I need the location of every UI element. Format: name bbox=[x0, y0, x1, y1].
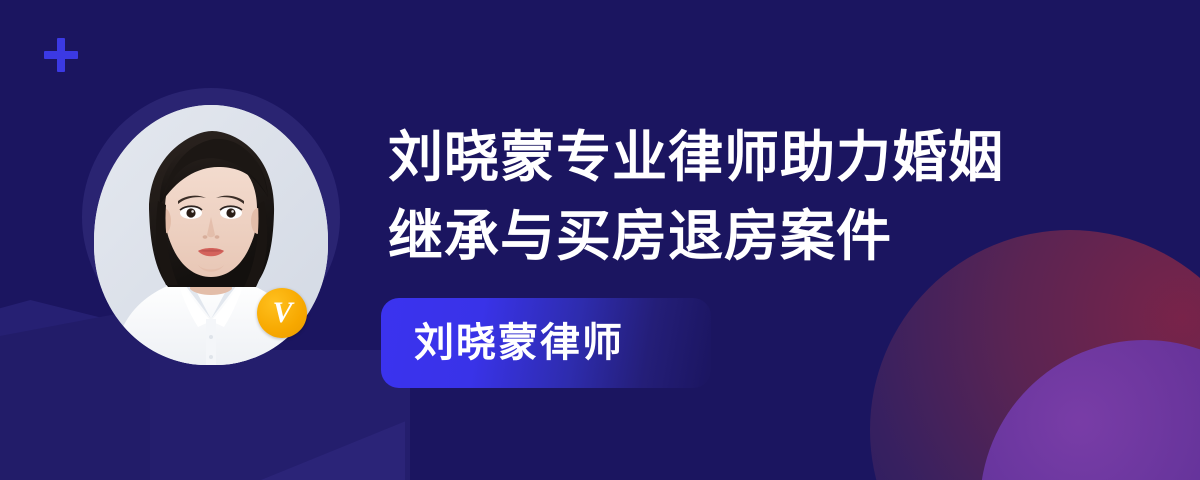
lawyer-promo-banner: V 刘晓蒙专业律师助力婚姻 继承与买房退房案件 刘晓蒙律师 bbox=[0, 0, 1200, 480]
background-orb-purple bbox=[980, 340, 1200, 480]
headline-line-2: 继承与买房退房案件 bbox=[388, 197, 1088, 276]
page-title: 刘晓蒙专业律师助力婚姻 继承与买房退房案件 bbox=[388, 118, 1088, 276]
lawyer-name-button-label: 刘晓蒙律师 bbox=[414, 323, 624, 363]
verified-badge-label: V bbox=[272, 298, 291, 328]
lawyer-name-button[interactable]: 刘晓蒙律师 bbox=[381, 298, 711, 388]
headline-line-1: 刘晓蒙专业律师助力婚姻 bbox=[388, 118, 1088, 197]
plus-icon bbox=[44, 38, 78, 72]
avatar: V bbox=[82, 88, 340, 382]
verified-badge: V bbox=[257, 288, 307, 338]
banner-content: 刘晓蒙专业律师助力婚姻 继承与买房退房案件 bbox=[388, 118, 1088, 276]
background-facet-shape bbox=[175, 395, 405, 480]
